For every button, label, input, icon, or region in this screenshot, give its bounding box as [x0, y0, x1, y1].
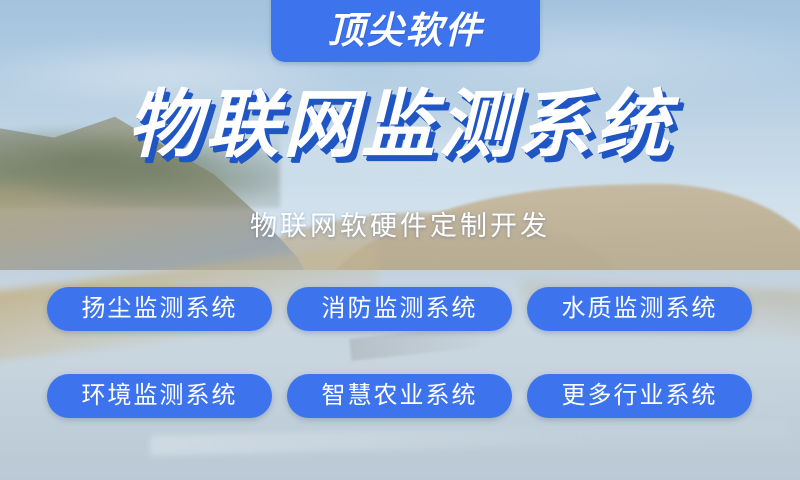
- promo-banner: 顶尖软件 物联网监测系统 物联网软硬件定制开发 扬尘监测系统 消防监测系统 水质…: [0, 0, 800, 480]
- page-subtitle: 物联网软硬件定制开发: [0, 210, 800, 244]
- brand-badge: 顶尖软件: [271, 0, 540, 62]
- system-pill-fire-monitoring[interactable]: 消防监测系统: [287, 287, 512, 331]
- system-category-list: 扬尘监测系统 消防监测系统 水质监测系统 环境监测系统 智慧农业系统 更多行业系…: [47, 287, 753, 418]
- system-pill-smart-agriculture[interactable]: 智慧农业系统: [287, 374, 512, 418]
- system-pill-more-industries[interactable]: 更多行业系统: [527, 374, 752, 418]
- system-pill-environment[interactable]: 环境监测系统: [47, 374, 272, 418]
- banner-content: 顶尖软件 物联网监测系统 物联网软硬件定制开发 扬尘监测系统 消防监测系统 水质…: [0, 0, 800, 480]
- brand-badge-label: 顶尖软件: [328, 12, 484, 62]
- page-title: 物联网监测系统: [0, 88, 800, 162]
- system-pill-water-quality[interactable]: 水质监测系统: [527, 287, 752, 331]
- system-pill-dust-monitoring[interactable]: 扬尘监测系统: [47, 287, 272, 331]
